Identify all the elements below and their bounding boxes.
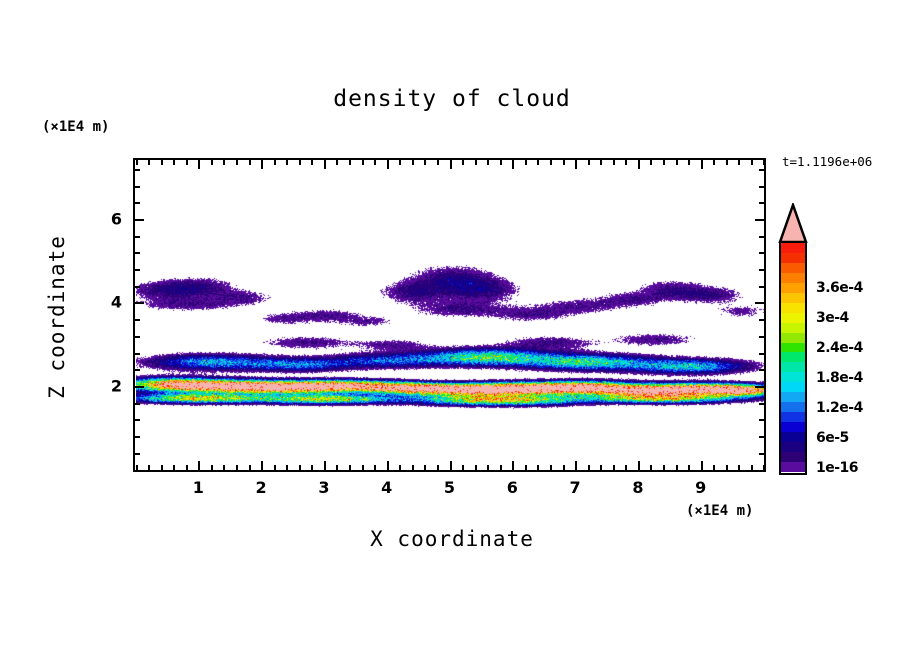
time-stamp-label: t=1.1196e+06 [782, 154, 872, 169]
axis-tick [399, 465, 401, 470]
axis-tick [135, 286, 140, 288]
colorbar [779, 241, 807, 475]
y-axis-title: Z coordinate [45, 227, 69, 407]
colorbar-band [781, 412, 805, 422]
axis-tick [336, 465, 338, 470]
x-tick-label: 8 [632, 478, 643, 497]
axis-tick [759, 269, 764, 271]
axis-tick [462, 465, 464, 470]
axis-tick [613, 465, 615, 470]
y-axis-unit-label: (×1E4 m) [42, 119, 109, 135]
axis-tick [135, 169, 140, 171]
axis-tick [135, 453, 140, 455]
colorbar-band [781, 352, 805, 362]
axis-tick [450, 160, 452, 169]
colorbar-tick-label: 3.6e-4 [816, 280, 863, 296]
axis-tick [424, 160, 426, 165]
axis-tick [638, 160, 640, 169]
x-axis-title: X coordinate [0, 527, 904, 551]
axis-tick [412, 465, 414, 470]
axis-tick [135, 336, 140, 338]
colorbar-band [781, 362, 805, 372]
axis-tick [324, 160, 326, 169]
axis-tick [173, 465, 175, 470]
axis-tick [500, 465, 502, 470]
axis-tick [625, 465, 627, 470]
axis-tick [135, 219, 144, 221]
axis-tick [450, 461, 452, 470]
x-tick-label: 2 [256, 478, 267, 497]
axis-tick [286, 160, 288, 165]
axis-tick [462, 160, 464, 165]
axis-tick [311, 465, 313, 470]
axis-tick [437, 160, 439, 165]
colorbar-band [781, 323, 805, 333]
y-tick-label: 4 [104, 293, 122, 312]
axis-tick [236, 160, 238, 165]
axis-tick [759, 286, 764, 288]
axis-tick [625, 160, 627, 165]
x-axis-unit-label: (×1E4 m) [686, 503, 753, 519]
axis-tick [161, 160, 163, 165]
plot-title: density of cloud [0, 86, 904, 112]
axis-tick [663, 465, 665, 470]
x-tick-label: 6 [507, 478, 518, 497]
axis-tick [500, 160, 502, 165]
axis-tick [650, 465, 652, 470]
colorbar-band [781, 402, 805, 412]
axis-tick [186, 465, 188, 470]
axis-tick [759, 453, 764, 455]
axis-tick [311, 160, 313, 165]
axis-tick [755, 386, 764, 388]
axis-tick [759, 369, 764, 371]
axis-tick [349, 465, 351, 470]
axis-tick [211, 160, 213, 165]
axis-tick [713, 160, 715, 165]
colorbar-tick-label: 2.4e-4 [816, 340, 863, 356]
axis-tick [638, 461, 640, 470]
axis-tick [550, 160, 552, 165]
colorbar-band [781, 283, 805, 293]
colorbar-band [781, 432, 805, 442]
axis-tick [676, 160, 678, 165]
plot-frame [133, 158, 766, 472]
axis-tick [751, 465, 753, 470]
axis-tick [249, 160, 251, 165]
axis-tick [437, 465, 439, 470]
colorbar-band [781, 273, 805, 283]
axis-tick [759, 319, 764, 321]
colorbar-band [781, 382, 805, 392]
axis-tick [600, 465, 602, 470]
axis-tick [135, 319, 140, 321]
axis-tick [135, 186, 140, 188]
axis-tick [299, 160, 301, 165]
axis-tick [135, 436, 140, 438]
axis-tick [135, 403, 140, 405]
axis-tick [198, 160, 200, 169]
axis-tick [387, 461, 389, 470]
axis-tick [755, 219, 764, 221]
colorbar-band [781, 313, 805, 323]
axis-tick [688, 160, 690, 165]
axis-tick [148, 465, 150, 470]
axis-tick [759, 403, 764, 405]
axis-tick [525, 465, 527, 470]
axis-tick [362, 465, 364, 470]
colorbar-band [781, 452, 805, 462]
axis-tick [399, 160, 401, 165]
axis-tick [575, 160, 577, 169]
axis-tick [136, 160, 138, 165]
axis-tick [135, 419, 140, 421]
colorbar-band [781, 293, 805, 303]
axis-tick [274, 160, 276, 165]
axis-tick [726, 465, 728, 470]
colorbar-band [781, 253, 805, 263]
axis-tick [688, 465, 690, 470]
axis-tick [676, 465, 678, 470]
axis-tick [759, 186, 764, 188]
x-tick-label: 9 [695, 478, 706, 497]
axis-tick [424, 465, 426, 470]
axis-tick [759, 419, 764, 421]
axis-tick [759, 436, 764, 438]
axis-tick [759, 336, 764, 338]
axis-tick [738, 465, 740, 470]
axis-tick [223, 160, 225, 165]
axis-tick [512, 160, 514, 169]
axis-tick [261, 461, 263, 470]
axis-tick [349, 160, 351, 165]
axis-tick [563, 160, 565, 165]
x-tick-label: 7 [570, 478, 581, 497]
axis-tick [362, 160, 364, 165]
colorbar-band [781, 333, 805, 343]
colorbar-tick-label: 3e-4 [816, 310, 849, 326]
colorbar-tick-label: 6e-5 [816, 430, 849, 446]
axis-tick [759, 470, 764, 472]
axis-tick [236, 465, 238, 470]
axis-tick [135, 202, 140, 204]
axis-tick [763, 160, 765, 165]
colorbar-band [781, 372, 805, 382]
axis-tick [324, 461, 326, 470]
axis-tick [537, 465, 539, 470]
axis-tick [412, 160, 414, 165]
axis-tick [286, 465, 288, 470]
x-tick-label: 4 [381, 478, 392, 497]
x-tick-label: 3 [318, 478, 329, 497]
axis-tick [563, 465, 565, 470]
axis-tick [135, 236, 140, 238]
colorbar-band [781, 243, 805, 253]
axis-tick [525, 160, 527, 165]
axis-tick [759, 252, 764, 254]
axis-tick [135, 269, 140, 271]
axis-tick [512, 461, 514, 470]
axis-tick [249, 465, 251, 470]
colorbar-band [781, 343, 805, 353]
axis-tick [701, 160, 703, 169]
axis-tick [135, 353, 140, 355]
axis-tick [701, 461, 703, 470]
axis-tick [600, 160, 602, 165]
colorbar-band [781, 422, 805, 432]
y-tick-label: 2 [104, 376, 122, 395]
axis-tick [588, 465, 590, 470]
axis-tick [211, 465, 213, 470]
axis-tick [299, 465, 301, 470]
axis-tick [759, 202, 764, 204]
axis-tick [135, 470, 140, 472]
axis-tick [274, 465, 276, 470]
axis-tick [588, 160, 590, 165]
axis-tick [135, 252, 140, 254]
axis-tick [173, 160, 175, 165]
colorbar-band [781, 442, 805, 452]
colorbar-band [781, 263, 805, 273]
axis-tick [751, 160, 753, 165]
colorbar-tick-label: 1.8e-4 [816, 370, 863, 386]
x-tick-label: 5 [444, 478, 455, 497]
axis-tick [650, 160, 652, 165]
axis-tick [374, 160, 376, 165]
axis-tick [186, 160, 188, 165]
axis-tick [613, 160, 615, 165]
axis-tick [135, 369, 140, 371]
colorbar-band [781, 462, 805, 472]
axis-tick [537, 160, 539, 165]
axis-tick [148, 160, 150, 165]
axis-tick [550, 465, 552, 470]
x-tick-label: 1 [193, 478, 204, 497]
colorbar-band [781, 392, 805, 402]
axis-tick [487, 465, 489, 470]
colorbar-overflow-arrow [777, 203, 809, 243]
axis-tick [759, 169, 764, 171]
axis-tick [374, 465, 376, 470]
axis-tick [475, 465, 477, 470]
axis-tick [135, 386, 144, 388]
axis-tick [759, 236, 764, 238]
axis-tick [663, 160, 665, 165]
axis-tick [475, 160, 477, 165]
axis-tick [759, 353, 764, 355]
axis-tick [198, 461, 200, 470]
axis-tick [726, 160, 728, 165]
axis-tick [755, 302, 764, 304]
colorbar-tick-label: 1e-16 [816, 460, 858, 476]
y-tick-label: 6 [104, 209, 122, 228]
axis-tick [387, 160, 389, 169]
axis-tick [713, 465, 715, 470]
axis-tick [487, 160, 489, 165]
colorbar-band [781, 303, 805, 313]
axis-tick [223, 465, 225, 470]
axis-tick [135, 302, 144, 304]
axis-tick [261, 160, 263, 169]
axis-tick [575, 461, 577, 470]
axis-tick [161, 465, 163, 470]
axis-tick [336, 160, 338, 165]
axis-tick [738, 160, 740, 165]
colorbar-tick-label: 1.2e-4 [816, 400, 863, 416]
